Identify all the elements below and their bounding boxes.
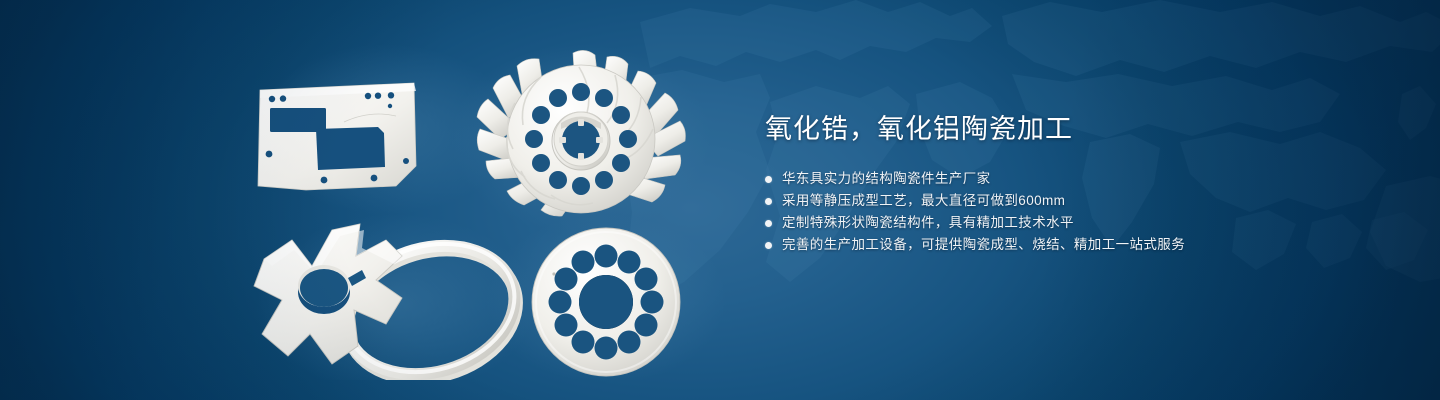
list-item: 定制特殊形状陶瓷结构件，具有精加工技术水平 — [765, 212, 1385, 234]
hero-banner: 氧化锆，氧化铝陶瓷加工 华东具实力的结构陶瓷件生产厂家 采用等静压成型工艺，最大… — [0, 0, 1440, 400]
feature-text: 采用等静压成型工艺，最大直径可做到600mm — [782, 190, 1065, 212]
feature-list: 华东具实力的结构陶瓷件生产厂家 采用等静压成型工艺，最大直径可做到600mm 定… — [765, 168, 1385, 256]
list-item: 华东具实力的结构陶瓷件生产厂家 — [765, 168, 1385, 190]
bullet-dot-icon — [765, 198, 772, 205]
feature-text: 定制特殊形状陶瓷结构件，具有精加工技术水平 — [782, 212, 1074, 234]
list-item: 完善的生产加工设备，可提供陶瓷成型、烧结、精加工一站式服务 — [765, 234, 1385, 256]
feature-text: 完善的生产加工设备，可提供陶瓷成型、烧结、精加工一站式服务 — [782, 234, 1185, 256]
bullet-dot-icon — [765, 242, 772, 249]
list-item: 采用等静压成型工艺，最大直径可做到600mm — [765, 190, 1385, 212]
banner-text-block: 氧化锆，氧化铝陶瓷加工 华东具实力的结构陶瓷件生产厂家 采用等静压成型工艺，最大… — [765, 112, 1385, 256]
feature-text: 华东具实力的结构陶瓷件生产厂家 — [782, 168, 991, 190]
bullet-dot-icon — [765, 176, 772, 183]
bullet-dot-icon — [765, 220, 772, 227]
banner-headline: 氧化锆，氧化铝陶瓷加工 — [765, 112, 1385, 146]
